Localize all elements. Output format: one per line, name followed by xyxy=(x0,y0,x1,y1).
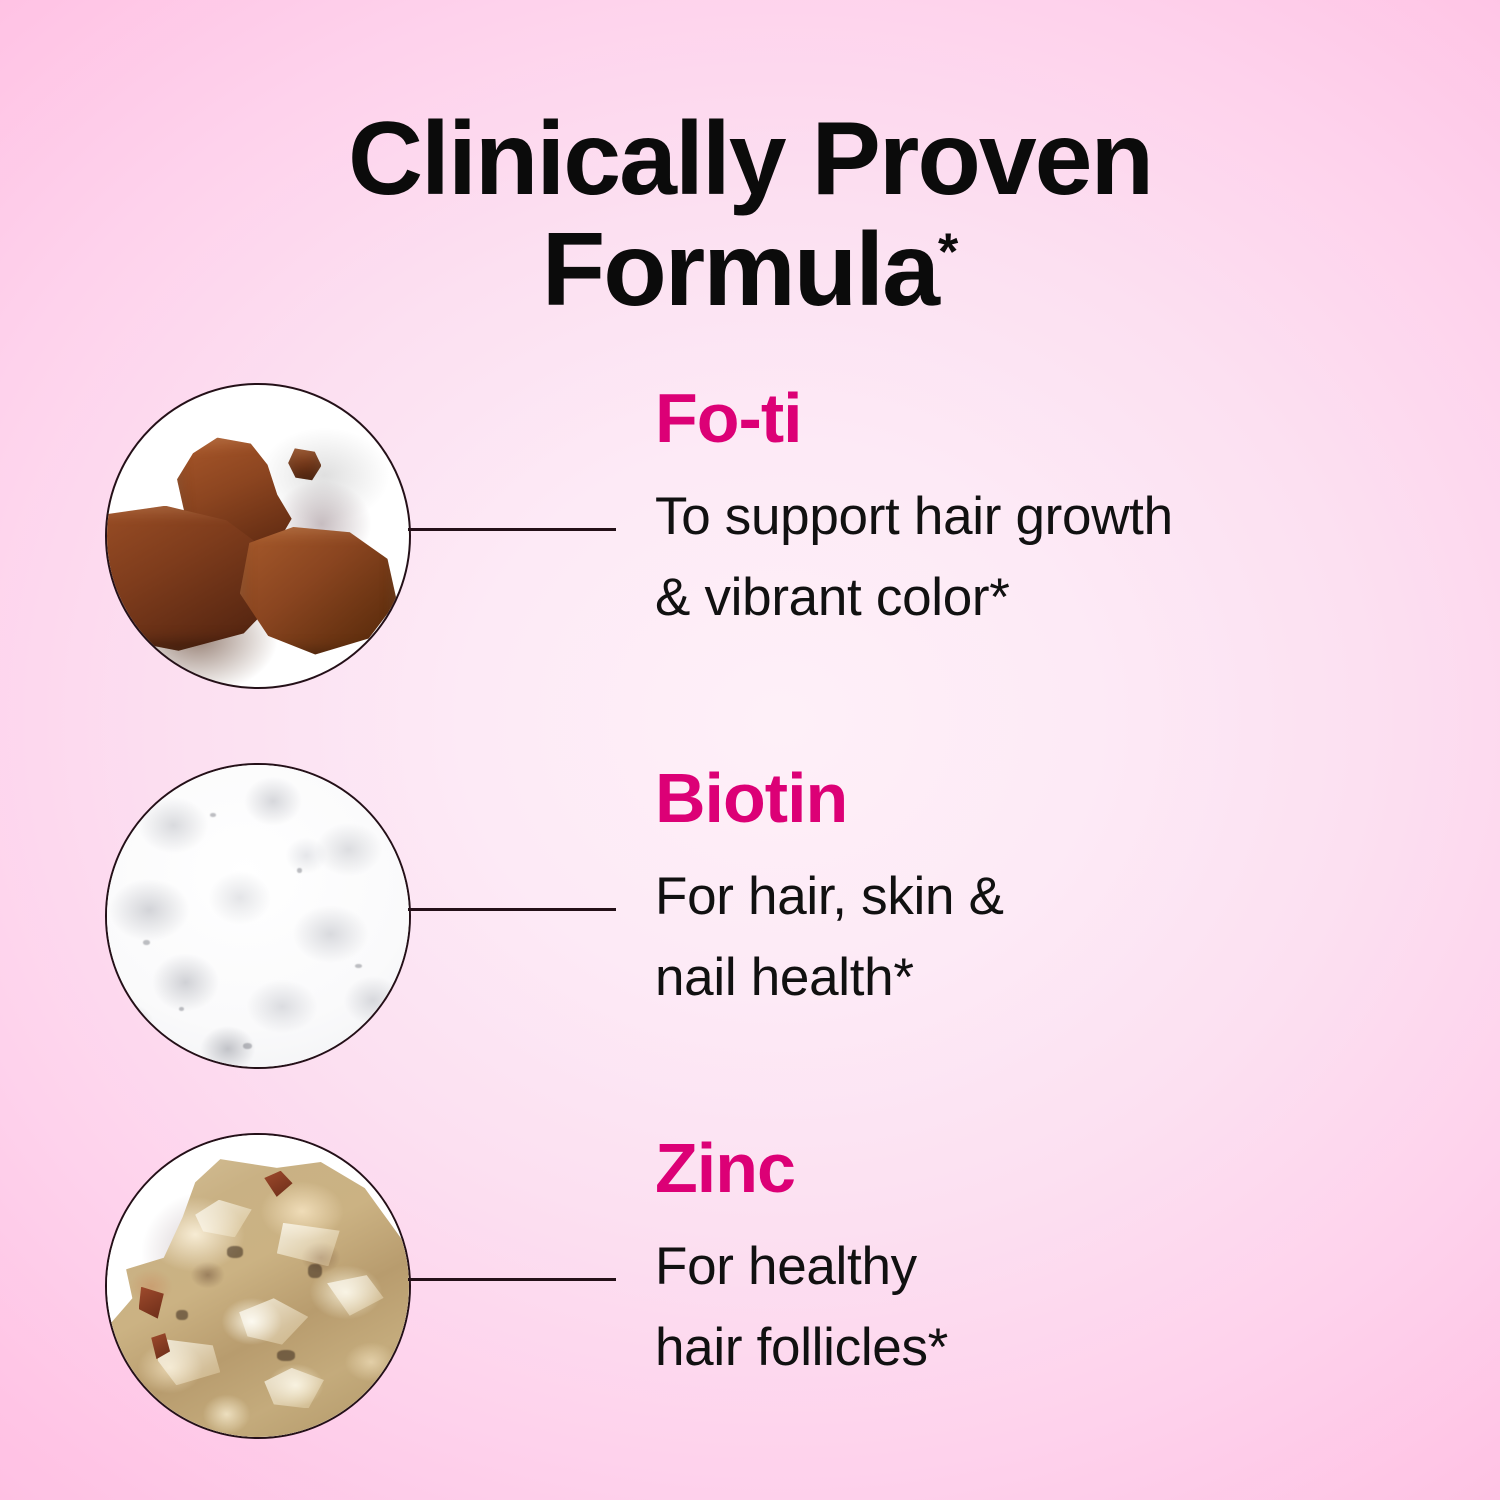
powder-speck xyxy=(297,868,302,873)
connector-line-biotin xyxy=(408,908,616,911)
ore-cavity xyxy=(227,1246,243,1258)
footnote-asterisk: * xyxy=(938,224,958,282)
ore-facet xyxy=(239,1298,308,1344)
ore-facet xyxy=(264,1368,324,1409)
ore-red-crystal xyxy=(139,1287,164,1319)
ingredient-name: Biotin xyxy=(655,763,1445,833)
ore-facet xyxy=(327,1275,384,1316)
page-title: Clinically ProvenFormula* xyxy=(0,104,1500,327)
connector-line-fo-ti xyxy=(408,528,616,531)
powder-speck xyxy=(179,1007,184,1011)
ingredient-description: To support hair growth & vibrant color* xyxy=(655,477,1445,638)
page-title-line-2: Formula xyxy=(542,212,938,328)
ingredient-name: Fo-ti xyxy=(655,383,1445,453)
ingredient-image-biotin xyxy=(105,763,411,1069)
ingredient-image-fo-ti xyxy=(105,383,411,689)
ingredient-description: For hair, skin & nail health* xyxy=(655,857,1445,1018)
ingredient-text-fo-ti: Fo-ti To support hair growth & vibrant c… xyxy=(655,383,1445,638)
powder-speck xyxy=(243,1043,252,1049)
ingredient-name: Zinc xyxy=(655,1133,1445,1203)
ore-cavity xyxy=(176,1310,188,1320)
ingredient-text-biotin: Biotin For hair, skin & nail health* xyxy=(655,763,1445,1018)
connector-line-zinc xyxy=(408,1278,616,1281)
zinc-mineral-ore-photo xyxy=(107,1135,409,1437)
ingredient-text-zinc: Zinc For healthy hair follicles* xyxy=(655,1133,1445,1388)
page-title-line-1: Clinically Proven xyxy=(348,101,1152,217)
ore-red-crystal xyxy=(264,1171,292,1197)
ore-cavity xyxy=(277,1350,295,1361)
ore-cavity xyxy=(308,1264,322,1278)
ore-facet xyxy=(277,1223,340,1266)
ore-facet xyxy=(195,1200,252,1238)
biotin-white-powder-photo xyxy=(107,765,409,1067)
powder-speck xyxy=(355,964,362,968)
ingredient-image-zinc xyxy=(105,1133,411,1439)
ingredient-description: For healthy hair follicles* xyxy=(655,1227,1445,1388)
powder-speck xyxy=(143,940,150,945)
powder-speck xyxy=(210,813,216,817)
fo-ti-root-bark-photo xyxy=(107,385,409,687)
